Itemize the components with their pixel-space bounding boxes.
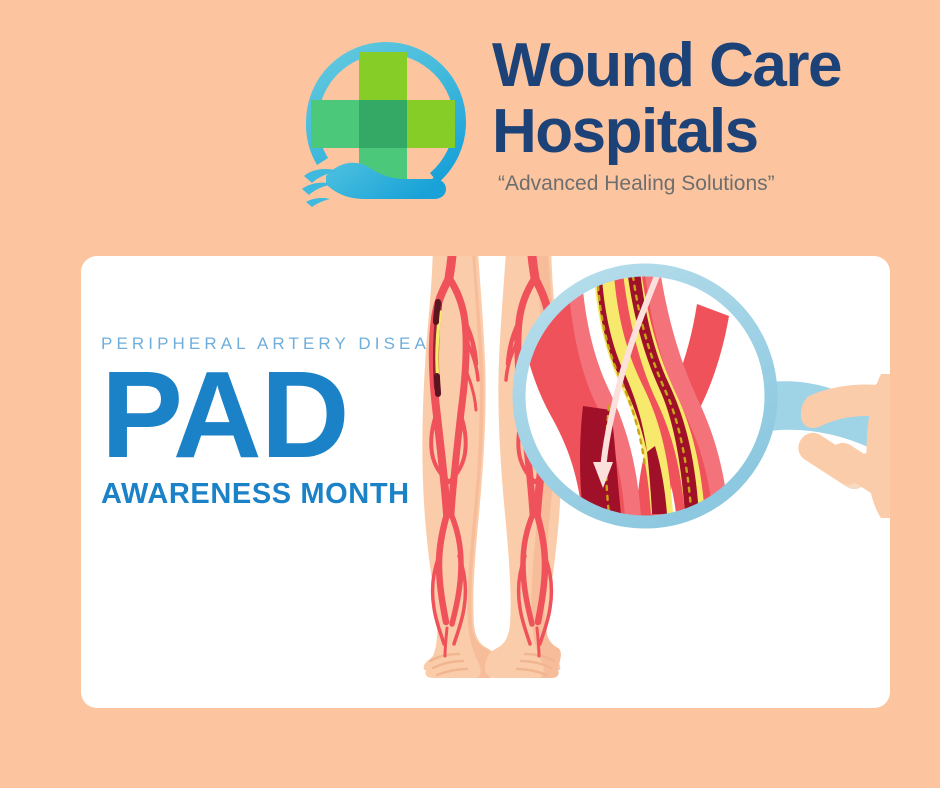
logo-svg — [288, 26, 484, 216]
header: Wound Care Hospitals “Advanced Healing S… — [0, 0, 940, 235]
left-leg — [422, 256, 499, 678]
hand-overflow-svg — [790, 368, 940, 508]
pad-illustration — [81, 256, 890, 708]
brand-tagline: “Advanced Healing Solutions” — [498, 172, 922, 196]
content-card: PERIPHERAL ARTERY DISEASE PAD AWARENESS … — [81, 256, 890, 708]
logo-mark — [288, 26, 484, 216]
magnifying-glass-icon — [515, 256, 771, 522]
hand-overflow-region — [790, 368, 940, 508]
brand-line-2: Hospitals — [492, 99, 922, 165]
brand-text: Wound Care Hospitals “Advanced Healing S… — [492, 33, 922, 213]
brand-line-1: Wound Care — [492, 33, 922, 99]
